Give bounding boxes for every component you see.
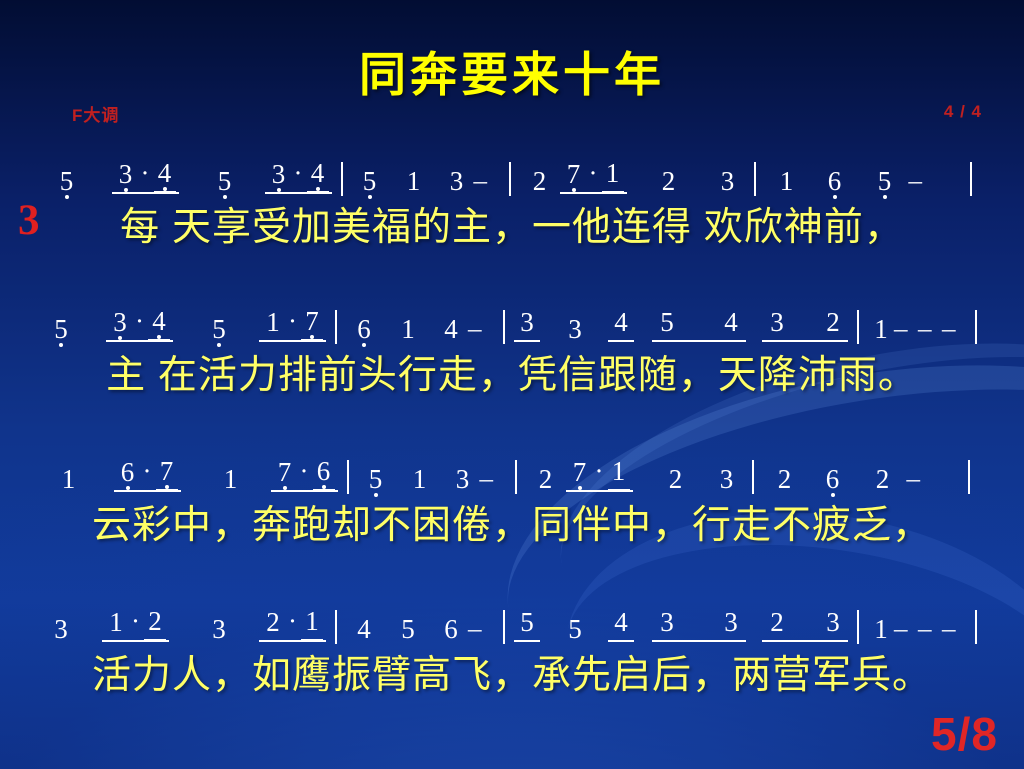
barline <box>970 162 972 196</box>
note: 5 <box>358 464 394 494</box>
note: 7 <box>562 159 586 189</box>
note: 3 <box>562 314 588 344</box>
beamed-group: 1 · 2 <box>102 606 169 644</box>
augmentation-dot: · <box>586 158 601 189</box>
sustain-dash: – <box>894 313 918 344</box>
augmentation-dot: · <box>297 456 312 487</box>
note: 6 <box>807 464 859 494</box>
beamed-group: 4 <box>608 607 634 644</box>
sustain-dash: – <box>918 313 942 344</box>
note: 6 <box>346 314 382 344</box>
beamed-group: 3 · 4 <box>112 158 179 196</box>
note: 1 <box>300 606 324 636</box>
barline <box>968 460 970 494</box>
note: 5 <box>199 314 239 344</box>
note: 7 <box>300 306 324 336</box>
note: 3 <box>446 464 480 494</box>
note: 3 <box>516 307 538 337</box>
note: 1 <box>607 456 631 486</box>
barline <box>503 310 505 344</box>
augmentation-dot: · <box>285 606 300 637</box>
note: 1 <box>765 166 809 196</box>
note: 2 <box>143 606 167 636</box>
beamed-group: 3 <box>514 307 540 344</box>
notation-row-3: 1 6 · 7 1 7 · 6 5 1 3 – 2 7 · <box>0 448 1024 494</box>
beamed-group: 4 <box>608 307 634 344</box>
barline <box>503 610 505 644</box>
note: 3 <box>718 607 744 637</box>
augmentation-dot: · <box>291 158 306 189</box>
note: 5 <box>382 614 434 644</box>
barline <box>341 162 343 196</box>
note: 5 <box>562 614 588 644</box>
note: 3 <box>764 307 790 337</box>
note: 7 <box>273 457 297 487</box>
note: 2 <box>526 464 566 494</box>
barline <box>335 310 337 344</box>
beamed-group: 7 · 1 <box>566 456 633 494</box>
beamed-group: 1 · 7 <box>259 306 326 344</box>
barline <box>754 162 756 196</box>
note: 3 <box>440 166 474 196</box>
music-system-2: 5 3 · 4 5 1 · 7 6 1 4 – 3 <box>0 298 1024 408</box>
sustain-dash: – <box>909 165 961 196</box>
sustain-dash: – <box>468 613 494 644</box>
slide-canvas: 同奔要来十年 F大调 4 / 4 3 5 3 · 4 5 3 · 4 5 1 3… <box>0 0 1024 769</box>
note: 5 <box>352 166 388 196</box>
barline <box>335 610 337 644</box>
note: 6 <box>434 614 468 644</box>
beamed-group: 6 · 7 <box>114 456 181 494</box>
beamed-group: 3 · 4 <box>106 306 173 344</box>
note: 4 <box>718 307 744 337</box>
note: 3 <box>267 159 291 189</box>
sustain-dash: – <box>894 613 918 644</box>
note: 2 <box>820 307 846 337</box>
note: 2 <box>651 166 687 196</box>
note: 1 <box>388 166 440 196</box>
note: 2 <box>261 607 285 637</box>
note: 4 <box>434 314 468 344</box>
note: 5 <box>38 314 84 344</box>
note: 2 <box>659 464 693 494</box>
notation-row-1: 5 3 · 4 5 3 · 4 5 1 3 – 2 7 · <box>0 150 1024 196</box>
note: 4 <box>153 158 177 188</box>
augmentation-dot: · <box>128 606 143 637</box>
note: 4 <box>610 607 632 637</box>
notation-row-2: 5 3 · 4 5 1 · 7 6 1 4 – 3 <box>0 298 1024 344</box>
note: 4 <box>346 614 382 644</box>
note: 5 <box>44 166 90 196</box>
time-signature: 4 / 4 <box>944 102 982 122</box>
note: 3 <box>108 307 132 337</box>
barline <box>752 460 754 494</box>
note: 1 <box>868 614 894 644</box>
note: 5 <box>861 166 909 196</box>
note: 5 <box>516 607 538 637</box>
beamed-group: 5 <box>514 607 540 644</box>
note: 4 <box>147 306 171 336</box>
note: 3 <box>114 159 138 189</box>
augmentation-dot: · <box>132 306 147 337</box>
lyrics-line-2: 主 在活力排前头行走，凭信跟随，天降沛雨。 <box>0 344 1024 408</box>
note: 6 <box>116 457 140 487</box>
key-signature: F大调 <box>72 101 119 126</box>
barline <box>515 460 517 494</box>
music-system-4: 3 1 · 2 3 2 · 1 4 5 6 – 5 <box>0 598 1024 708</box>
lyrics-line-3: 云彩中，奔跑却不困倦，同伴中，行走不疲乏， <box>0 494 1024 558</box>
note: 2 <box>859 464 907 494</box>
augmentation-dot: · <box>285 306 300 337</box>
barline <box>975 610 977 644</box>
barline <box>509 162 511 196</box>
beamed-group: 2 · 1 <box>259 606 326 644</box>
sustain-dash: – <box>480 463 506 494</box>
note: 3 <box>199 614 239 644</box>
note: 2 <box>763 464 807 494</box>
sustain-dash: – <box>942 313 966 344</box>
lyrics-line-4: 活力人，如鹰振臂高飞，承先启后，两营军兵。 <box>0 644 1024 708</box>
note: 1 <box>394 464 446 494</box>
beamed-group: 7 · 6 <box>271 456 338 494</box>
music-system-1: 5 3 · 4 5 3 · 4 5 1 3 – 2 7 · <box>0 150 1024 260</box>
sustain-dash: – <box>942 613 966 644</box>
note: 2 <box>764 607 790 637</box>
note: 1 <box>211 464 251 494</box>
sustain-dash: – <box>907 463 959 494</box>
note: 1 <box>104 607 128 637</box>
barline <box>857 610 859 644</box>
beamed-group: 2 3 <box>762 607 848 644</box>
note: 1 <box>601 158 625 188</box>
note: 4 <box>306 158 330 188</box>
note: 6 <box>809 166 861 196</box>
note: 1 <box>261 307 285 337</box>
music-system-3: 1 6 · 7 1 7 · 6 5 1 3 – 2 7 · <box>0 448 1024 558</box>
note: 1 <box>868 314 894 344</box>
note: 5 <box>654 307 680 337</box>
beamed-group: 3 3 <box>652 607 746 644</box>
note: 2 <box>520 166 560 196</box>
note: 3 <box>711 166 745 196</box>
augmentation-dot: · <box>592 456 607 487</box>
page-number: 5/8 <box>931 707 998 761</box>
barline <box>857 310 859 344</box>
song-title: 同奔要来十年 <box>0 36 1024 105</box>
note: 7 <box>155 456 179 486</box>
note: 5 <box>205 166 245 196</box>
note: 1 <box>46 464 92 494</box>
note: 3 <box>654 607 680 637</box>
note: 7 <box>568 457 592 487</box>
beamed-group: 5 4 <box>652 307 746 344</box>
barline <box>347 460 349 494</box>
beamed-group: 3 2 <box>762 307 848 344</box>
note: 1 <box>382 314 434 344</box>
note: 4 <box>610 307 632 337</box>
sustain-dash: – <box>468 313 494 344</box>
lyrics-line-1: 每 天享受加美福的主，一他连得 欢欣神前， <box>0 196 1024 260</box>
note: 3 <box>820 607 846 637</box>
barline <box>975 310 977 344</box>
note: 3 <box>38 614 84 644</box>
beamed-group: 3 · 4 <box>265 158 332 196</box>
augmentation-dot: · <box>138 158 153 189</box>
note: 6 <box>312 456 336 486</box>
notation-row-4: 3 1 · 2 3 2 · 1 4 5 6 – 5 <box>0 598 1024 644</box>
note: 3 <box>711 464 743 494</box>
sustain-dash: – <box>918 613 942 644</box>
augmentation-dot: · <box>140 456 155 487</box>
sustain-dash: – <box>474 165 500 196</box>
beamed-group: 7 · 1 <box>560 158 627 196</box>
